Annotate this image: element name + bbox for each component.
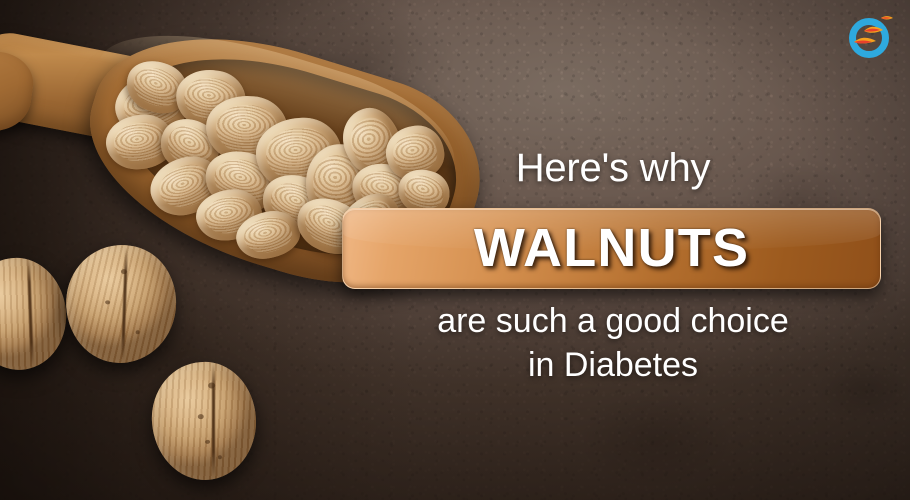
walnut-speck <box>135 330 139 334</box>
brand-logo[interactable] <box>848 11 896 59</box>
subheadline: are such a good choice in Diabetes <box>383 300 843 387</box>
whole-walnut <box>59 239 183 370</box>
walnut-speck <box>120 268 127 274</box>
subheadline-line-2: in Diabetes <box>383 344 843 388</box>
highlight-banner: WALNUTS <box>342 208 881 289</box>
walnut-speck <box>205 440 210 444</box>
walnut-speck <box>218 455 222 459</box>
walnut-seam <box>27 258 34 366</box>
banner-canvas: Here's why WALNUTS are such a good choic… <box>0 0 910 500</box>
walnut-seam <box>212 364 215 477</box>
headline-top: Here's why <box>383 146 843 191</box>
highlight-word: WALNUTS <box>343 209 880 288</box>
bird-in-circle-icon <box>848 11 896 59</box>
whole-walnut <box>149 359 259 482</box>
subheadline-line-1: are such a good choice <box>383 300 843 344</box>
walnut-speck <box>197 414 203 419</box>
walnut-speck <box>104 300 109 305</box>
walnut-seam <box>121 248 128 361</box>
